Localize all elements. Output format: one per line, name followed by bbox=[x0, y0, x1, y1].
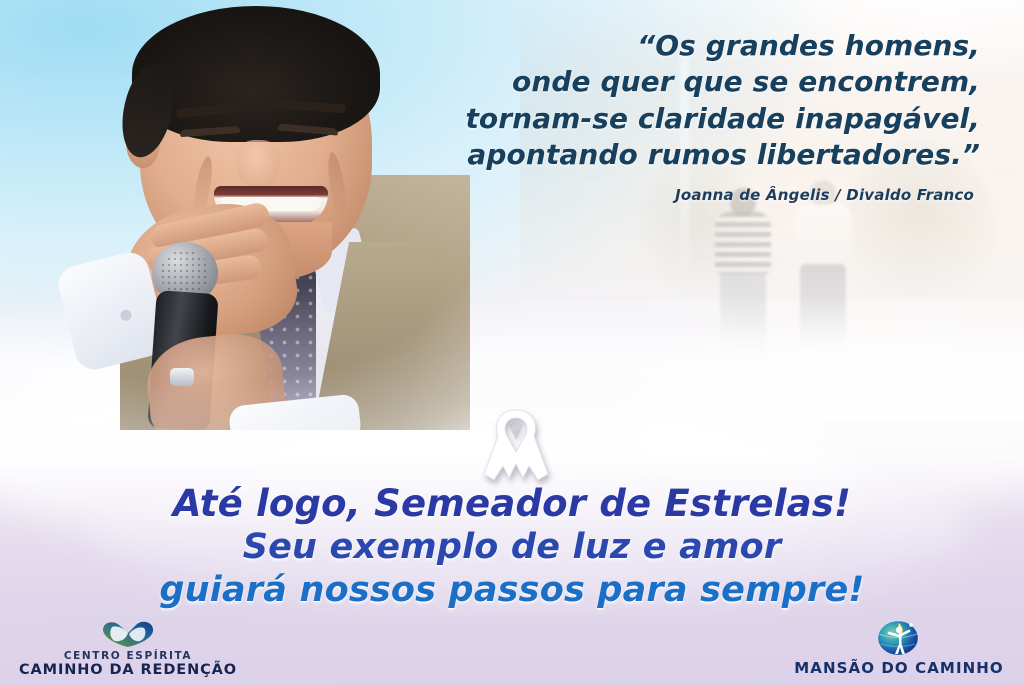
globe-figure-flame-icon bbox=[873, 611, 925, 657]
logo-left-line-2: CAMINHO DA REDENÇÃO bbox=[8, 662, 248, 679]
logo-right-name: MANSÃO DO CAMINHO bbox=[784, 659, 1014, 677]
headline-line-3: guiará nossos passos para sempre! bbox=[0, 569, 1024, 612]
quote-attribution: Joanna de Ângelis / Divaldo Franco bbox=[320, 186, 974, 204]
headline-block: Até logo, Semeador de Estrelas! Seu exem… bbox=[0, 482, 1024, 612]
quote-line-4: apontando rumos libertadores.” bbox=[320, 137, 980, 173]
logo-left-line-1: CENTRO ESPÍRITA bbox=[8, 650, 248, 662]
quote-line-2: onde quer que se encontrem, bbox=[320, 64, 980, 100]
poster-canvas: “Os grandes homens, onde quer que se enc… bbox=[0, 0, 1024, 685]
quote-block: “Os grandes homens, onde quer que se enc… bbox=[320, 28, 980, 204]
quote-line-1: “Os grandes homens, bbox=[320, 28, 980, 64]
figure-torso bbox=[715, 212, 771, 274]
headline-line-2: Seu exemplo de luz e amor bbox=[0, 526, 1024, 569]
mourning-ribbon-icon bbox=[479, 408, 553, 492]
ring bbox=[170, 368, 194, 386]
logo-mansao-do-caminho[interactable]: MANSÃO DO CAMINHO bbox=[784, 611, 1014, 677]
headline-line-1: Até logo, Semeador de Estrelas! bbox=[0, 482, 1024, 526]
nose bbox=[236, 140, 280, 188]
logo-centro-espirita[interactable]: CENTRO ESPÍRITA CAMINHO DA REDENÇÃO bbox=[8, 618, 248, 679]
hands-heart-icon bbox=[99, 618, 157, 648]
quote-line-3: tornam-se claridade inapagável, bbox=[320, 101, 980, 137]
figure-torso bbox=[795, 204, 851, 266]
